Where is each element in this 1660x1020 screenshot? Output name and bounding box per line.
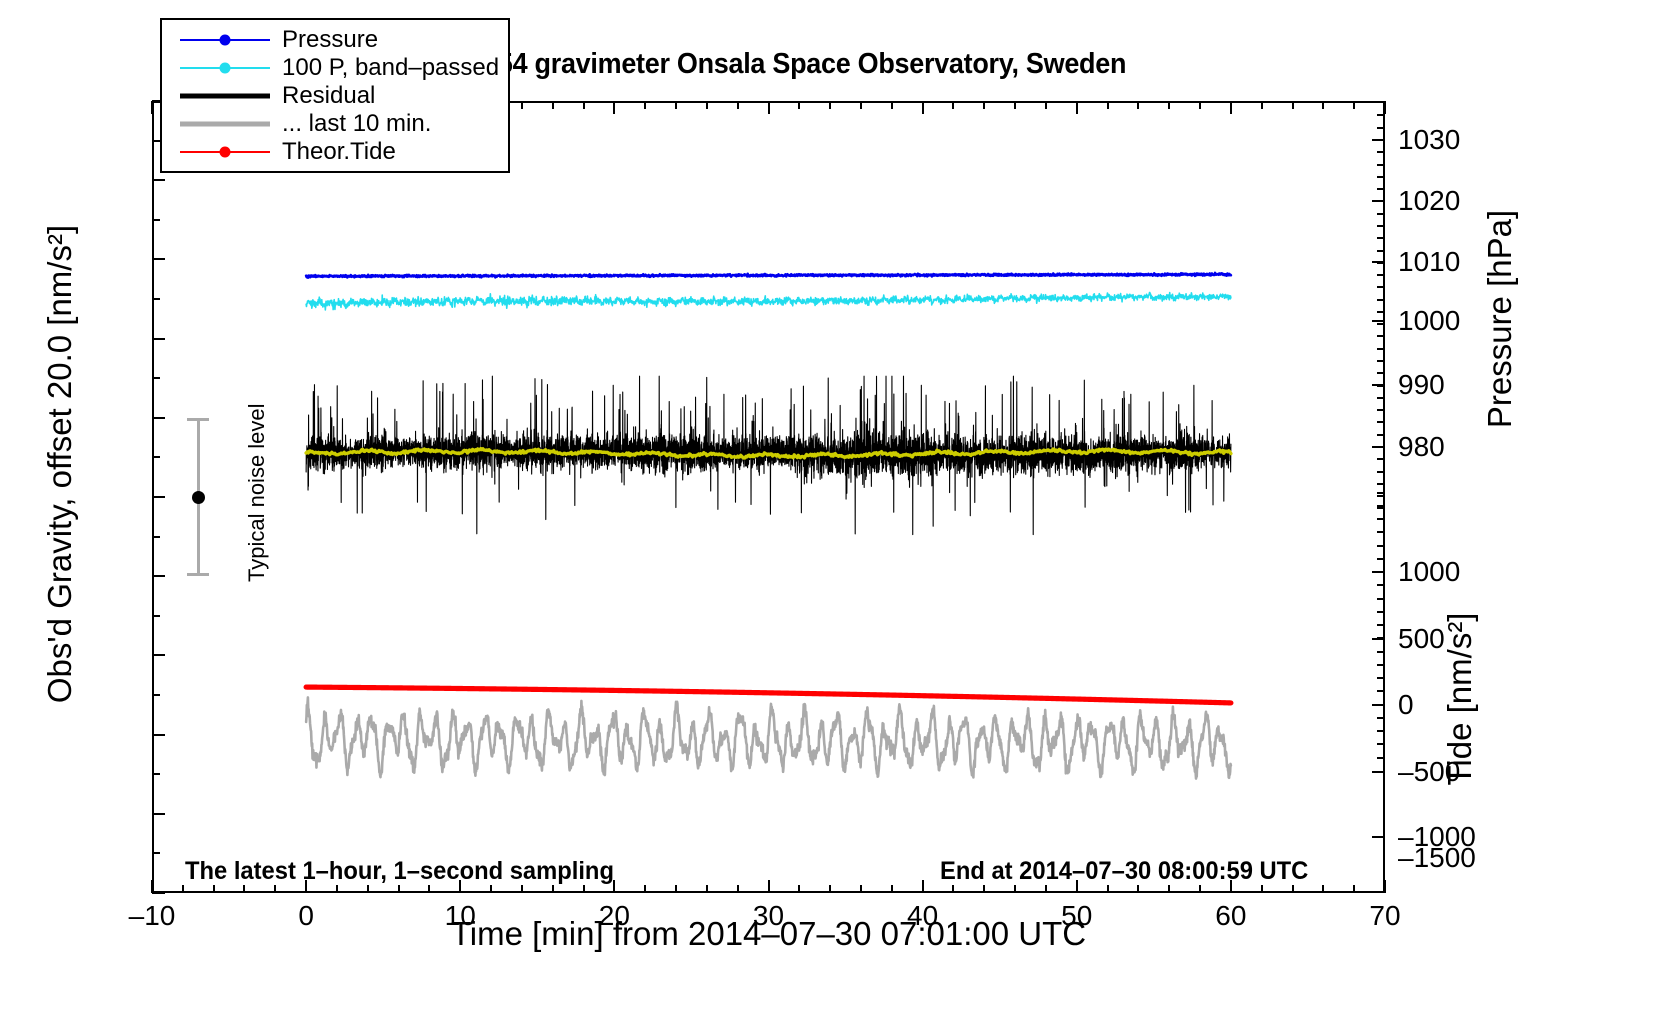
tide-tick-label: 1000	[1398, 556, 1460, 588]
tick-mark	[1107, 101, 1109, 109]
tick-mark	[583, 885, 585, 893]
tick-mark	[644, 101, 646, 109]
tick-mark	[798, 885, 800, 893]
tick-mark	[1377, 495, 1385, 497]
tick-mark	[768, 880, 770, 893]
x-tick-label: 50	[1061, 900, 1092, 932]
tick-mark	[1377, 372, 1385, 374]
tick-mark	[152, 615, 160, 617]
tick-mark	[552, 101, 554, 109]
pressure-tick-label: 1000	[1398, 305, 1460, 337]
legend-item[interactable]: 100 P, band–passed	[162, 54, 508, 82]
tick-mark	[1377, 299, 1385, 301]
tick-mark	[1377, 250, 1385, 252]
tick-mark	[1377, 558, 1385, 560]
tick-mark	[1377, 348, 1385, 350]
tide-tick-label: –1500	[1398, 842, 1476, 874]
tick-mark	[1322, 101, 1324, 109]
tick-mark	[152, 536, 160, 538]
pressure-tick-label: 980	[1398, 431, 1445, 463]
tick-mark	[1377, 213, 1385, 215]
tick-mark	[1377, 164, 1385, 166]
tick-mark	[1230, 101, 1232, 114]
x-tick-label: 70	[1369, 900, 1400, 932]
tick-mark	[1377, 225, 1385, 227]
tick-mark	[644, 885, 646, 893]
tick-mark	[1377, 335, 1385, 337]
tick-mark	[829, 101, 831, 109]
tick-mark	[675, 885, 677, 893]
legend-key-3	[180, 86, 270, 106]
tick-mark	[768, 101, 770, 114]
tick-mark	[1377, 598, 1385, 600]
trace-pressure	[306, 273, 1231, 278]
tick-mark	[1261, 101, 1263, 109]
tick-mark	[1377, 409, 1385, 411]
legend-key-4	[180, 114, 270, 134]
tick-mark	[613, 101, 615, 114]
footer-note-right: End at 2014–07–30 08:00:59 UTC	[940, 857, 1308, 886]
tick-mark	[1168, 101, 1170, 109]
tick-mark	[1377, 360, 1385, 362]
tick-mark	[1292, 885, 1294, 893]
tick-mark	[367, 885, 369, 893]
tick-mark	[922, 880, 924, 893]
tick-mark	[1377, 507, 1385, 509]
tick-mark	[1377, 571, 1385, 573]
legend-item[interactable]: Theor.Tide	[162, 138, 508, 166]
tick-mark	[152, 496, 165, 498]
tick-mark	[1377, 717, 1385, 719]
tick-mark	[152, 734, 165, 736]
tick-mark	[737, 101, 739, 109]
tick-mark	[1377, 757, 1385, 759]
tick-mark	[1372, 320, 1385, 322]
tide-tick-label: 500	[1398, 623, 1445, 655]
legend-key-5	[180, 142, 270, 162]
tick-mark	[1137, 885, 1139, 893]
x-tick-label: 10	[445, 900, 476, 932]
tick-mark	[152, 456, 160, 458]
tick-mark	[152, 694, 160, 696]
tick-mark	[1353, 101, 1355, 109]
tick-mark	[1045, 101, 1047, 109]
tick-mark	[1377, 651, 1385, 653]
tick-mark	[1377, 518, 1385, 520]
tick-mark	[1377, 262, 1385, 264]
tick-mark	[1377, 611, 1385, 613]
x-tick-label: 60	[1215, 900, 1246, 932]
tick-mark	[1045, 885, 1047, 893]
legend-item[interactable]: Residual	[162, 82, 508, 110]
tick-mark	[1384, 880, 1386, 893]
trace-theoretical-tide	[306, 687, 1231, 703]
legend-item[interactable]: Pressure	[162, 26, 508, 54]
tick-mark	[274, 885, 276, 893]
tick-mark	[1076, 101, 1078, 114]
tide-tick-label: 0	[1398, 689, 1414, 721]
x-tick-label: 20	[599, 900, 630, 932]
tick-mark	[1377, 323, 1385, 325]
tick-mark	[152, 773, 160, 775]
tick-mark	[1353, 885, 1355, 893]
trace-pressure-bandpassed	[306, 292, 1231, 309]
tick-mark	[1377, 505, 1385, 507]
tick-mark	[1377, 274, 1385, 276]
tick-mark	[152, 179, 165, 181]
tick-mark	[490, 885, 492, 893]
tick-mark	[1377, 743, 1385, 745]
tick-mark	[1377, 690, 1385, 692]
tick-mark	[336, 885, 338, 893]
tick-mark	[1377, 446, 1385, 448]
tick-mark	[152, 417, 165, 419]
pressure-tick-label: 1010	[1398, 246, 1460, 278]
pressure-tick-label: 1030	[1398, 124, 1460, 156]
tick-mark	[182, 885, 184, 893]
tick-mark	[1377, 624, 1385, 626]
tick-mark	[1377, 471, 1385, 473]
tick-mark	[1377, 139, 1385, 141]
tick-mark	[983, 885, 985, 893]
tick-mark	[1168, 885, 1170, 893]
tick-mark	[428, 885, 430, 893]
tick-mark	[152, 258, 165, 260]
tick-mark	[398, 885, 400, 893]
tick-mark	[1377, 677, 1385, 679]
tick-mark	[860, 885, 862, 893]
tick-mark	[1384, 101, 1386, 114]
tick-mark	[1377, 483, 1385, 485]
tick-mark	[152, 654, 165, 656]
tick-mark	[1107, 885, 1109, 893]
tick-mark	[1377, 176, 1385, 178]
tick-mark	[1261, 885, 1263, 893]
noise-error-bar-cap-top	[187, 418, 209, 421]
tick-mark	[891, 101, 893, 109]
legend-label: Pressure	[270, 26, 378, 54]
legend-label: Theor.Tide	[270, 138, 396, 166]
data-traces	[154, 103, 1383, 891]
x-tick-label: 40	[907, 900, 938, 932]
typical-noise-level-label: Typical noise level	[244, 392, 270, 582]
tick-mark	[1377, 200, 1385, 202]
legend-dot-marker	[220, 147, 231, 158]
tick-mark	[152, 338, 165, 340]
tide-tick-label: –500	[1398, 756, 1460, 788]
tick-mark	[152, 892, 165, 894]
tick-mark	[1199, 885, 1201, 893]
tick-mark	[152, 377, 160, 379]
tick-mark	[552, 885, 554, 893]
tick-mark	[1377, 188, 1385, 190]
tick-mark	[829, 885, 831, 893]
tick-mark	[798, 101, 800, 109]
legend-line-swatch	[180, 122, 270, 127]
x-tick-label: 30	[753, 900, 784, 932]
noise-error-bar-cap-bottom	[187, 573, 209, 576]
tick-mark	[1137, 101, 1139, 109]
tick-mark	[952, 101, 954, 109]
tick-mark	[152, 140, 160, 142]
tick-mark	[860, 101, 862, 109]
tick-mark	[1377, 151, 1385, 153]
tick-mark	[1377, 704, 1385, 706]
pressure-tick-label: 990	[1398, 369, 1445, 401]
y-axis-label-pressure: Pressure [hPa]	[1481, 69, 1519, 569]
tick-mark	[1377, 458, 1385, 460]
tick-mark	[706, 101, 708, 109]
tick-mark	[675, 101, 677, 109]
tick-mark	[1377, 730, 1385, 732]
tick-mark	[1377, 531, 1385, 533]
tick-mark	[737, 885, 739, 893]
tick-mark	[213, 885, 215, 893]
tick-mark	[243, 885, 245, 893]
legend-key-1	[180, 30, 270, 50]
tick-mark	[1377, 545, 1385, 547]
tick-mark	[151, 880, 153, 893]
legend-dot-marker	[220, 35, 231, 46]
tick-mark	[1377, 434, 1385, 436]
tick-mark	[1377, 421, 1385, 423]
tick-mark	[1372, 836, 1385, 838]
x-tick-label: –10	[129, 900, 176, 932]
tick-mark	[1377, 286, 1385, 288]
tick-mark	[1377, 385, 1385, 387]
tick-mark	[1372, 771, 1385, 773]
legend-dot-marker	[220, 63, 231, 74]
tick-mark	[1377, 584, 1385, 586]
legend-line-swatch	[180, 94, 270, 99]
tick-mark	[1199, 101, 1201, 109]
tick-mark	[1014, 885, 1016, 893]
tick-mark	[706, 885, 708, 893]
tick-mark	[1377, 114, 1385, 116]
legend-item[interactable]: ... last 10 min.	[162, 110, 508, 138]
tick-mark	[1377, 127, 1385, 129]
tick-mark	[1014, 101, 1016, 109]
trace-last-10-min	[306, 697, 1231, 778]
tick-mark	[1377, 311, 1385, 313]
tick-mark	[583, 101, 585, 109]
tick-mark	[983, 101, 985, 109]
x-tick-label: 0	[298, 900, 314, 932]
tick-mark	[1292, 101, 1294, 109]
noise-center-dot	[192, 491, 205, 504]
plot-area	[152, 101, 1385, 893]
tick-mark	[152, 219, 160, 221]
tick-mark	[521, 101, 523, 109]
footer-note-left: The latest 1–hour, 1–second sampling	[185, 857, 614, 886]
legend-label: ... last 10 min.	[270, 110, 431, 138]
tick-mark	[1322, 885, 1324, 893]
chart-canvas: SCG_054 gravimeter Onsala Space Observat…	[0, 0, 1660, 1020]
tick-mark	[922, 101, 924, 114]
legend-label: Residual	[270, 82, 375, 110]
legend-label: 100 P, band–passed	[270, 54, 499, 82]
tick-mark	[151, 101, 153, 114]
tick-mark	[521, 885, 523, 893]
y-axis-label-left: Obs'd Gravity, offset 20.0 [nm/s²]	[41, 64, 79, 864]
chart-legend: Pressure100 P, band–passedResidual... la…	[160, 18, 510, 173]
tick-mark	[1377, 637, 1385, 639]
tick-mark	[1377, 492, 1385, 494]
tick-mark	[1377, 237, 1385, 239]
tick-mark	[891, 885, 893, 893]
pressure-tick-label: 1020	[1398, 185, 1460, 217]
tick-mark	[152, 852, 160, 854]
tick-mark	[152, 575, 165, 577]
tick-mark	[152, 298, 160, 300]
tick-mark	[152, 813, 165, 815]
legend-key-2	[180, 58, 270, 78]
tick-mark	[1377, 397, 1385, 399]
tick-mark	[1377, 664, 1385, 666]
tick-mark	[952, 885, 954, 893]
